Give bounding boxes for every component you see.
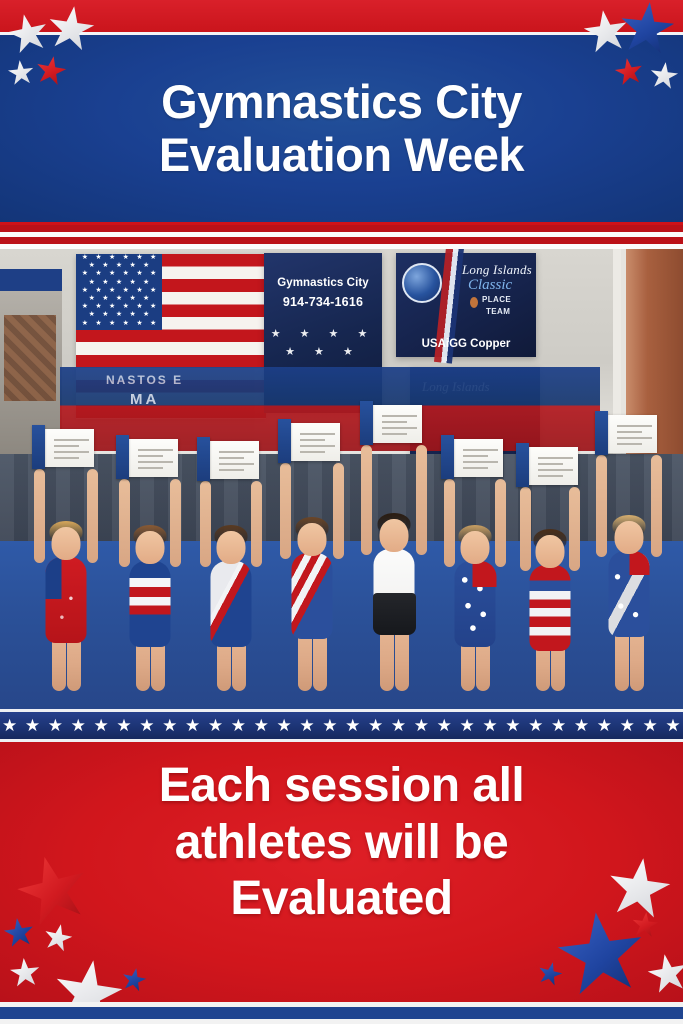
- flag-star-row: ★★★★★★: [76, 254, 162, 262]
- wall-band-text-2: MA: [130, 391, 159, 408]
- athlete-head: [536, 535, 565, 568]
- certificate-text-line: [538, 457, 573, 459]
- flag-star-icon: ★: [89, 311, 95, 319]
- flag-star-icon: ★: [116, 279, 122, 287]
- medal-icon: [402, 263, 442, 303]
- flag-star-icon: ★: [143, 279, 149, 287]
- ring-icon: [470, 297, 478, 308]
- band-star-icon: ★: [597, 717, 612, 734]
- band-star-icon: ★: [116, 717, 131, 734]
- flag-star-icon: ★: [123, 320, 129, 328]
- certificate-text-line: [382, 427, 417, 429]
- wall-band-text-1: NASTOS E: [106, 373, 183, 387]
- athlete-figure: [276, 423, 348, 691]
- certificate-text-line: [538, 469, 573, 471]
- band-star-icon: ★: [2, 717, 17, 734]
- banner-classic-line-2: Classic: [468, 277, 512, 294]
- athlete-figure: [30, 429, 102, 691]
- certificate-text-line: [300, 439, 325, 441]
- band-star-icon: ★: [574, 717, 589, 734]
- certificate-text-line: [219, 451, 254, 453]
- flag-star-icon: ★: [136, 303, 142, 311]
- certificate-text-line: [538, 463, 563, 465]
- athlete-arm-raised: [87, 469, 98, 563]
- title-panel: Gymnastics City Evaluation Week: [0, 32, 683, 222]
- flag-star-icon: ★: [150, 254, 156, 262]
- athlete-arm-raised: [333, 463, 344, 559]
- athlete-arm-raised: [34, 469, 45, 563]
- flag-star-icon: ★: [136, 254, 142, 262]
- flag-star-icon: ★: [143, 262, 149, 270]
- band-star-icon: ★: [345, 717, 360, 734]
- gymnasts-group-photo: ★★★★★★★★★★★★★★★★★★★★★★★★★★★★★★★★★★★★★★★★…: [0, 249, 683, 709]
- certificate-text-line: [617, 431, 642, 433]
- certificate-text-line: [300, 451, 325, 453]
- banner-gym-name: Gymnastics City: [264, 277, 382, 289]
- flag-star-icon: ★: [102, 295, 108, 303]
- flag-star-icon: ★: [102, 262, 108, 270]
- athlete-arm-raised: [170, 479, 181, 567]
- certificate-text-line: [138, 455, 163, 457]
- bottom-stripe-blue: [0, 1007, 683, 1019]
- flag-star-icon: ★: [136, 320, 142, 328]
- flag-star-icon: ★: [102, 279, 108, 287]
- flag-star-icon: ★: [150, 320, 156, 328]
- certificate-text-line: [138, 461, 173, 463]
- band-star-icon: ★: [643, 717, 658, 734]
- athlete-arm-raised: [251, 481, 262, 567]
- banner-gym-phone: 914-734-1616: [264, 295, 382, 309]
- athlete-leotard: [46, 557, 87, 643]
- flag-star-icon: ★: [82, 270, 88, 278]
- athlete-head: [380, 519, 409, 552]
- flag-star-row: ★★★★★★: [76, 270, 162, 278]
- banner-gym-stars: ★ ★ ★ ★ ★ ★ ★: [264, 325, 382, 361]
- athlete-figure: [357, 405, 431, 691]
- athlete-figure: [196, 441, 266, 691]
- athlete-shorts: [373, 593, 416, 635]
- certificate-text-line: [138, 449, 173, 451]
- flag-star-icon: ★: [123, 254, 129, 262]
- band-star-icon: ★: [208, 717, 223, 734]
- banner-classic-line-3: PLACE: [482, 295, 511, 305]
- flag-star-icon: ★: [89, 262, 95, 270]
- flag-star-icon: ★: [95, 254, 101, 262]
- flag-star-icon: ★: [123, 270, 129, 278]
- band-star-icon: ★: [48, 717, 63, 734]
- flag-star-icon: ★: [116, 311, 122, 319]
- athlete-head: [52, 527, 81, 560]
- flag-star-icon: ★: [109, 254, 115, 262]
- certificate-text-line: [219, 469, 244, 471]
- bottom-star-blue-2: [120, 966, 148, 994]
- athlete-head: [217, 531, 246, 564]
- certificate-text-line: [54, 445, 79, 447]
- athlete-figure: [440, 439, 510, 691]
- flag-star-row: ★★★★★: [76, 279, 162, 287]
- evaluation-certificate: [522, 447, 578, 485]
- athlete-leotard: [211, 561, 252, 647]
- evaluation-certificate: [447, 439, 503, 477]
- certificate-text-line: [300, 445, 335, 447]
- evaluation-certificate: [203, 441, 259, 479]
- evaluation-certificate: [284, 423, 340, 461]
- flag-star-row: ★★★★★: [76, 295, 162, 303]
- athlete-leotard: [292, 553, 333, 639]
- bottom-star-white-3: [9, 957, 42, 990]
- band-star-icon: ★: [665, 717, 680, 734]
- athlete-arm-raised: [520, 487, 531, 571]
- athlete-figure: [592, 415, 666, 691]
- flag-star-icon: ★: [129, 311, 135, 319]
- band-star-icon: ★: [414, 717, 429, 734]
- flag-star-icon: ★: [150, 270, 156, 278]
- certificate-text-line: [463, 449, 498, 451]
- athlete-leotard: [374, 549, 415, 635]
- flag-canton: ★★★★★★★★★★★★★★★★★★★★★★★★★★★★★★★★★★★★★★★★…: [76, 254, 162, 330]
- long-islands-classic-banner: Long Islands Classic PLACE TEAM USAiGG C…: [396, 253, 536, 357]
- band-star-icon: ★: [620, 717, 635, 734]
- certificate-text-line: [300, 433, 335, 435]
- flag-star-icon: ★: [82, 254, 88, 262]
- certificate-text-line: [617, 425, 652, 427]
- band-star-icon: ★: [25, 717, 40, 734]
- flag-star-icon: ★: [116, 262, 122, 270]
- flag-star-icon: ★: [89, 279, 95, 287]
- athlete-leotard: [609, 551, 650, 637]
- certificate-text-line: [219, 457, 244, 459]
- band-star-icon: ★: [391, 717, 406, 734]
- evaluation-certificate: [38, 429, 94, 467]
- flag-star-icon: ★: [129, 279, 135, 287]
- footer-line-3: Evaluated: [0, 871, 683, 928]
- athlete-figure: [115, 439, 185, 691]
- certificate-text-line: [138, 467, 163, 469]
- flag-star-icon: ★: [109, 270, 115, 278]
- bottom-stripe-white-2: [0, 1019, 683, 1024]
- athlete-leotard: [530, 565, 571, 651]
- flag-star-icon: ★: [150, 287, 156, 295]
- athlete-figure: [516, 447, 584, 691]
- flag-star-icon: ★: [82, 287, 88, 295]
- band-star-icon: ★: [528, 717, 543, 734]
- banner-classic-line-1: Long Islands: [462, 262, 532, 278]
- evaluation-certificate: [366, 405, 422, 443]
- certificate-text-line: [219, 463, 254, 465]
- flag-star-icon: ★: [95, 270, 101, 278]
- band-star-icon: ★: [322, 717, 337, 734]
- certificate-text-line: [463, 467, 488, 469]
- band-star-icon: ★: [482, 717, 497, 734]
- athlete-head: [615, 521, 644, 554]
- athlete-arm-raised: [569, 487, 580, 571]
- flag-star-icon: ★: [123, 287, 129, 295]
- flag-star-icon: ★: [150, 303, 156, 311]
- certificate-text-line: [538, 475, 563, 477]
- banner-classic-line-4: TEAM: [486, 307, 510, 317]
- certificate-text-line: [382, 421, 407, 423]
- athlete-head: [136, 531, 165, 564]
- flag-star-icon: ★: [89, 295, 95, 303]
- band-star-icon: ★: [368, 717, 383, 734]
- divider-stripe-red-1: [0, 225, 683, 232]
- band-star-icon: ★: [231, 717, 246, 734]
- flag-star-row: ★★★★★★: [76, 320, 162, 328]
- certificate-text-line: [54, 457, 79, 459]
- banner-classic-subtitle: USAiGG Copper: [396, 338, 536, 350]
- star-band-divider: ★★★★★★★★★★★★★★★★★★★★★★★★★★★★★★: [0, 709, 683, 742]
- bottom-star-white-5: [645, 951, 683, 997]
- band-star-icon: ★: [139, 717, 154, 734]
- poster-canvas: Gymnastics City Evaluation Week ★★★★★★★★…: [0, 0, 683, 1024]
- band-star-icon: ★: [277, 717, 292, 734]
- flag-star-icon: ★: [129, 295, 135, 303]
- athlete-arm-raised: [651, 455, 662, 557]
- flag-star-icon: ★: [143, 311, 149, 319]
- certificate-text-line: [382, 415, 417, 417]
- band-star-icon: ★: [460, 717, 475, 734]
- flag-star-icon: ★: [95, 303, 101, 311]
- athlete-leotard: [130, 561, 171, 647]
- certificate-text-line: [54, 439, 89, 441]
- flag-star-icon: ★: [123, 303, 129, 311]
- flag-star-row: ★★★★★: [76, 311, 162, 319]
- top-red-cap: [0, 0, 683, 34]
- certificate-text-line: [382, 433, 407, 435]
- evaluation-certificate: [601, 415, 657, 453]
- band-star-icon: ★: [71, 717, 86, 734]
- footer-panel: Each session all athletes will be Evalua…: [0, 742, 683, 1002]
- flag-star-row: ★★★★★★: [76, 287, 162, 295]
- flag-star-icon: ★: [82, 320, 88, 328]
- flag-star-icon: ★: [82, 303, 88, 311]
- certificate-text-line: [463, 461, 498, 463]
- page-title-line-2: Evaluation Week: [159, 129, 524, 182]
- band-star-icon: ★: [162, 717, 177, 734]
- top-banner: Gymnastics City Evaluation Week: [0, 0, 683, 225]
- band-star-icon: ★: [551, 717, 566, 734]
- flag-star-icon: ★: [129, 262, 135, 270]
- footer-text-block: Each session all athletes will be Evalua…: [0, 758, 683, 928]
- band-star-icon: ★: [185, 717, 200, 734]
- athlete-arm-raised: [280, 463, 291, 559]
- certificate-text-line: [617, 443, 642, 445]
- athlete-arm-raised: [200, 481, 211, 567]
- divider-stripe-red-2: [0, 237, 683, 244]
- stripe-divider-bottom: [0, 1002, 683, 1024]
- band-star-icon: ★: [254, 717, 269, 734]
- flag-star-icon: ★: [116, 295, 122, 303]
- athlete-leotard: [455, 561, 496, 647]
- evaluation-certificate: [122, 439, 178, 477]
- flag-star-icon: ★: [143, 295, 149, 303]
- flag-star-icon: ★: [95, 287, 101, 295]
- athlete-arm-raised: [596, 455, 607, 557]
- flag-star-icon: ★: [136, 270, 142, 278]
- certificate-text-line: [463, 455, 488, 457]
- athlete-arm-raised: [495, 479, 506, 567]
- athlete-arm-raised: [416, 445, 427, 555]
- footer-line-2: athletes will be: [0, 815, 683, 872]
- stripe-divider-top: [0, 225, 683, 249]
- page-title-line-1: Gymnastics City: [161, 76, 522, 129]
- athlete-arm-raised: [444, 479, 455, 567]
- flag-star-icon: ★: [136, 287, 142, 295]
- certificate-text-line: [617, 437, 652, 439]
- athlete-arm-raised: [361, 445, 372, 555]
- flag-star-icon: ★: [102, 311, 108, 319]
- athlete-head: [298, 523, 327, 556]
- band-star-icon: ★: [437, 717, 452, 734]
- band-star-icon: ★: [94, 717, 109, 734]
- certificate-text-line: [54, 451, 89, 453]
- footer-line-1: Each session all: [0, 758, 683, 815]
- flag-star-icon: ★: [109, 287, 115, 295]
- athlete-head: [461, 531, 490, 564]
- athlete-arm-raised: [119, 479, 130, 567]
- flag-star-icon: ★: [109, 303, 115, 311]
- band-star-icon: ★: [505, 717, 520, 734]
- bottom-star-blue-4: [535, 959, 564, 988]
- bottom-star-white-2: [49, 955, 127, 1002]
- band-star-icon: ★: [299, 717, 314, 734]
- flag-star-icon: ★: [109, 320, 115, 328]
- flag-star-icon: ★: [95, 320, 101, 328]
